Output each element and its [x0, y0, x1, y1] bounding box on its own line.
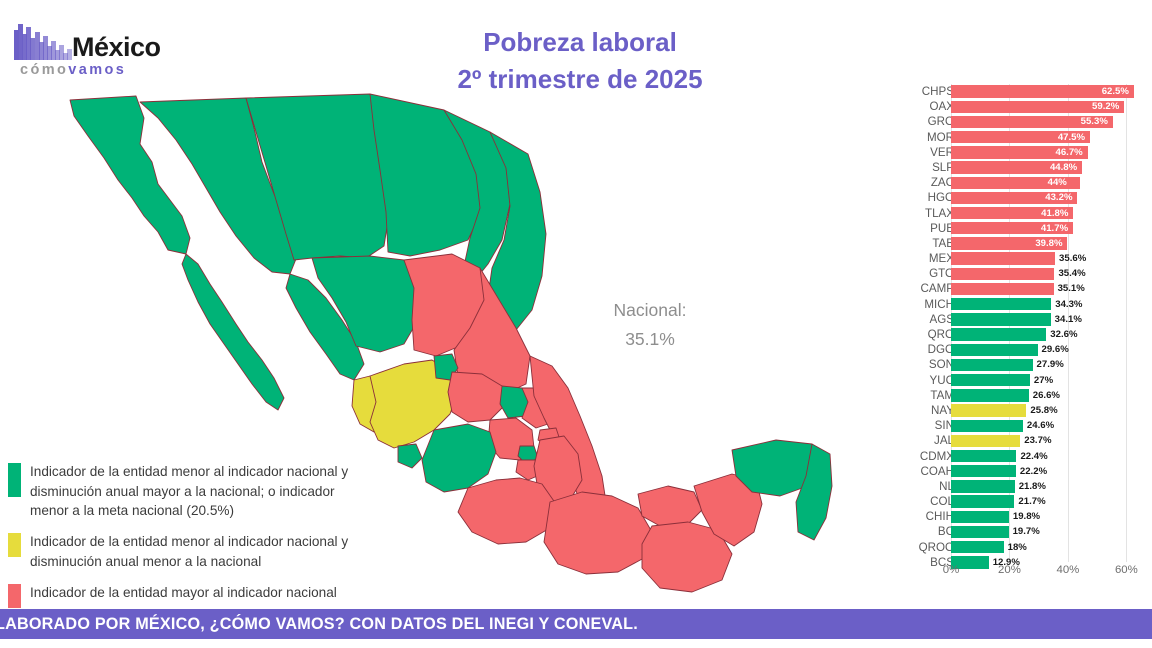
chart-x-tick-label: 20%	[998, 564, 1021, 576]
footer-text: ELABORADO POR MÉXICO, ¿CÓMO VAMOS? CON D…	[0, 615, 638, 634]
chart-category-label: GRO	[890, 114, 954, 129]
chart-bar	[951, 313, 1051, 325]
chart-value-label: 41.7%	[1041, 221, 1068, 236]
chart-category-label: BC	[890, 524, 954, 539]
chart-bar	[951, 344, 1038, 356]
chart-bar-row: JAL23.7%	[884, 433, 1152, 448]
chart-bar-row: GTO35.4%	[884, 266, 1152, 281]
chart-category-label: QROO	[890, 540, 954, 555]
chart-bar-row: NL21.8%	[884, 479, 1152, 494]
chart-category-label: SLP	[890, 160, 954, 175]
chart-value-label: 23.7%	[1024, 433, 1051, 448]
footer-banner: ELABORADO POR MÉXICO, ¿CÓMO VAMOS? CON D…	[0, 609, 1152, 639]
chart-bar	[951, 495, 1014, 507]
chart-bar	[951, 283, 1054, 295]
chart-value-label: 39.8%	[1035, 236, 1062, 251]
chart-category-label: MEX	[890, 251, 954, 266]
logo-wordmark: México	[72, 32, 161, 63]
chart-value-label: 35.1%	[1058, 281, 1085, 296]
logo-subtitle-gray: cómo	[20, 62, 68, 78]
legend-item: Indicador de la entidad menor al indicad…	[8, 532, 368, 571]
chart-category-label: COL	[890, 494, 954, 509]
logo-subtitle-purple: vamos	[68, 62, 126, 78]
chart-value-label: 29.6%	[1042, 342, 1069, 357]
chart-category-label: ZAC	[890, 175, 954, 190]
map-state-bcs	[182, 254, 284, 410]
legend-swatch-green	[8, 463, 21, 497]
legend-item: Indicador de la entidad mayor al indicad…	[8, 583, 368, 608]
chart-bar	[951, 450, 1016, 462]
chart-bar-row: TLAX41.8%	[884, 206, 1152, 221]
chart-bar-row: OAX59.2%	[884, 99, 1152, 114]
chart-bar-row: QROO18%	[884, 540, 1152, 555]
chart-category-label: MICH	[890, 297, 954, 312]
national-indicator: Nacional: 35.1%	[570, 296, 730, 355]
chart-bar-row: AGS34.1%	[884, 312, 1152, 327]
chart-bar-row: TAM26.6%	[884, 388, 1152, 403]
chart-category-label: CHPS	[890, 84, 954, 99]
chart-bar-row: SON27.9%	[884, 357, 1152, 372]
map-legend: Indicador de la entidad menor al indicad…	[8, 462, 368, 619]
chart-category-label: YUC	[890, 373, 954, 388]
chart-bars: CHPS62.5%OAX59.2%GRO55.3%MOR47.5%VER46.7…	[884, 84, 1152, 570]
chart-category-label: TAM	[890, 388, 954, 403]
chart-bar	[951, 420, 1023, 432]
chart-value-label: 34.3%	[1055, 297, 1082, 312]
chart-value-label: 44%	[1048, 175, 1067, 190]
chart-value-label: 43.2%	[1045, 190, 1072, 205]
chart-bar-row: CHIH19.8%	[884, 509, 1152, 524]
chart-category-label: QRO	[890, 327, 954, 342]
chart-value-label: 24.6%	[1027, 418, 1054, 433]
chart-category-label: PUE	[890, 221, 954, 236]
chart-x-axis: 0%20%40%60%	[951, 564, 1152, 584]
chart-bar-row: MICH34.3%	[884, 297, 1152, 312]
chart-value-label: 22.2%	[1020, 464, 1047, 479]
map-state-oax	[544, 492, 652, 574]
chart-category-label: DGO	[890, 342, 954, 357]
map-state-tab	[638, 486, 702, 526]
chart-bar-row: BC19.7%	[884, 524, 1152, 539]
chart-bar-row: COAH22.2%	[884, 464, 1152, 479]
chart-category-label: NAY	[890, 403, 954, 418]
chart-value-label: 27%	[1034, 373, 1053, 388]
page-title-line1: Pobreza laboral	[400, 24, 760, 61]
chart-value-label: 18%	[1008, 540, 1027, 555]
chart-bar-row: SIN24.6%	[884, 418, 1152, 433]
national-indicator-value: 35.1%	[570, 325, 730, 354]
chart-bar-row: COL21.7%	[884, 494, 1152, 509]
chart-category-label: GTO	[890, 266, 954, 281]
legend-label: Indicador de la entidad menor al indicad…	[30, 532, 368, 571]
chart-bar	[951, 389, 1029, 401]
chart-category-label: SIN	[890, 418, 954, 433]
chart-category-label: JAL	[890, 433, 954, 448]
chart-category-label: CHIH	[890, 509, 954, 524]
logo-subtitle: cómovamos	[20, 62, 126, 78]
chart-category-label: MOR	[890, 130, 954, 145]
chart-bar-row: GRO55.3%	[884, 114, 1152, 129]
chart-value-label: 62.5%	[1102, 84, 1129, 99]
chart-value-label: 27.9%	[1037, 357, 1064, 372]
page-title: Pobreza laboral 2º trimestre de 2025	[400, 24, 760, 98]
chart-bar-row: MEX35.6%	[884, 251, 1152, 266]
chart-bar	[951, 465, 1016, 477]
chart-bar	[951, 359, 1033, 371]
chart-value-label: 21.8%	[1019, 479, 1046, 494]
chart-x-tick-label: 40%	[1057, 564, 1080, 576]
chart-bar-row: VER46.7%	[884, 145, 1152, 160]
chart-bar-row: PUE41.7%	[884, 221, 1152, 236]
legend-label: Indicador de la entidad menor al indicad…	[30, 462, 368, 521]
chart-bar-row: CHPS62.5%	[884, 84, 1152, 99]
chart-bar-row: QRO32.6%	[884, 327, 1152, 342]
chart-bar-row: YUC27%	[884, 373, 1152, 388]
chart-bar	[951, 298, 1051, 310]
chart-value-label: 35.4%	[1058, 266, 1085, 281]
chart-bar-row: ZAC44%	[884, 175, 1152, 190]
chart-value-label: 21.7%	[1018, 494, 1045, 509]
chart-category-label: VER	[890, 145, 954, 160]
chart-category-label: CDMX	[890, 449, 954, 464]
chart-bar	[951, 268, 1054, 280]
chart-value-label: 47.5%	[1058, 130, 1085, 145]
chart-bar	[951, 404, 1026, 416]
chart-bar-row: TAB39.8%	[884, 236, 1152, 251]
chart-value-label: 26.6%	[1033, 388, 1060, 403]
legend-swatch-yellow	[8, 533, 21, 557]
chart-value-label: 34.1%	[1055, 312, 1082, 327]
map-state-gro	[458, 478, 556, 544]
chart-value-label: 19.7%	[1013, 524, 1040, 539]
chart-value-label: 55.3%	[1081, 114, 1108, 129]
chart-value-label: 44.8%	[1050, 160, 1077, 175]
national-indicator-label: Nacional:	[570, 296, 730, 325]
chart-value-label: 22.4%	[1020, 449, 1047, 464]
chart-value-label: 46.7%	[1056, 145, 1083, 160]
chart-bar-row: DGO29.6%	[884, 342, 1152, 357]
legend-item: Indicador de la entidad menor al indicad…	[8, 462, 368, 521]
chart-category-label: HGO	[890, 190, 954, 205]
legend-swatch-red	[8, 584, 21, 608]
chart-value-label: 59.2%	[1092, 99, 1119, 114]
chart-value-label: 35.6%	[1059, 251, 1086, 266]
map-state-col	[398, 444, 422, 468]
chart-bar	[951, 328, 1046, 340]
chart-bar	[951, 374, 1030, 386]
chart-bar	[951, 511, 1009, 523]
chart-category-label: SON	[890, 357, 954, 372]
map-state-mich	[422, 424, 496, 492]
chart-category-label: TAB	[890, 236, 954, 251]
chart-bar-row: NAY25.8%	[884, 403, 1152, 418]
brand-logo: México cómovamos	[14, 20, 179, 80]
chart-bar-row: HGO43.2%	[884, 190, 1152, 205]
chart-bar	[951, 435, 1020, 447]
chart-category-label: CAMP	[890, 281, 954, 296]
legend-label: Indicador de la entidad mayor al indicad…	[30, 583, 337, 603]
map-state-coah	[370, 94, 482, 256]
chart-bar-row: CDMX22.4%	[884, 449, 1152, 464]
chart-bar-row: MOR47.5%	[884, 130, 1152, 145]
bar-chart: CHPS62.5%OAX59.2%GRO55.3%MOR47.5%VER46.7…	[884, 84, 1152, 584]
chart-bar	[951, 252, 1055, 264]
logo-bars-icon	[14, 20, 72, 60]
chart-value-label: 19.8%	[1013, 509, 1040, 524]
chart-category-label: TLAX	[890, 206, 954, 221]
chart-x-tick-label: 60%	[1115, 564, 1138, 576]
chart-bar-row: CAMP35.1%	[884, 281, 1152, 296]
chart-value-label: 25.8%	[1030, 403, 1057, 418]
chart-bar	[951, 480, 1015, 492]
chart-x-tick-label: 0%	[943, 564, 959, 576]
chart-category-label: COAH	[890, 464, 954, 479]
chart-category-label: OAX	[890, 99, 954, 114]
chart-value-label: 32.6%	[1050, 327, 1077, 342]
chart-value-label: 41.8%	[1041, 206, 1068, 221]
chart-category-label: AGS	[890, 312, 954, 327]
chart-bar	[951, 526, 1009, 538]
chart-bar-row: SLP44.8%	[884, 160, 1152, 175]
chart-category-label: NL	[890, 479, 954, 494]
chart-bar	[951, 541, 1004, 553]
